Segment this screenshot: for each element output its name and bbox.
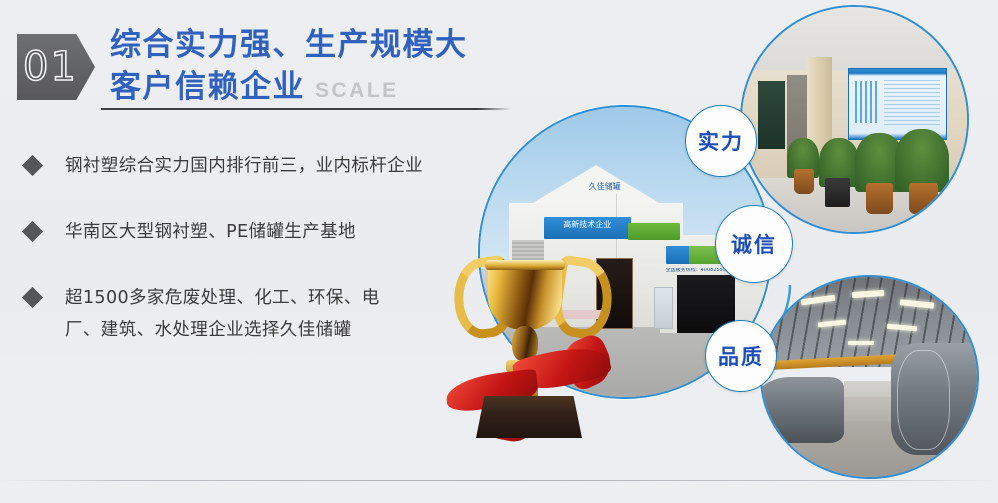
title-english-label: SCALE <box>315 79 399 102</box>
list-item: 超1500多家危废处理、化工、环保、电 厂、建筑、水处理企业选择久佳储罐 <box>22 282 492 346</box>
promo-banner: 01 综合实力强、生产规模大 客户信赖企业SCALE 钢衬塑综合实力国内排行前三… <box>0 0 998 503</box>
key-badge-strength: 实力 <box>685 105 757 177</box>
plant-pot <box>866 183 893 215</box>
photo-cluster: 久佳储罐 高新技术企业 全国服务热线：4008255586 <box>440 0 998 503</box>
key-badge-integrity: 诚信 <box>715 205 793 283</box>
office-corridor-photo <box>740 5 969 234</box>
floor-divider <box>0 480 998 481</box>
green-sign-panel <box>628 223 680 240</box>
list-item: 华南区大型钢衬塑、PE储罐生产基地 <box>22 216 492 248</box>
diamond-bullet-icon <box>22 221 43 242</box>
storage-tank-left <box>760 377 844 443</box>
section-number-badge: 01 <box>17 34 95 100</box>
plant-pot <box>825 178 850 207</box>
title-line-2-text: 客户信赖企业 <box>110 69 305 105</box>
background-equipment <box>844 381 891 421</box>
trophy-cup <box>488 264 562 330</box>
section-number-text: 01 <box>23 41 75 93</box>
ceiling-light <box>848 341 874 345</box>
list-item-label-continued: 厂、建筑、水处理企业选择久佳储罐 <box>65 314 492 346</box>
guard-booth <box>654 287 673 330</box>
key-badge-quality: 品质 <box>705 320 777 392</box>
trophy-rim <box>485 260 565 270</box>
plant-pot <box>909 183 938 215</box>
list-item-label: 超1500多家危废处理、化工、环保、电 <box>65 282 492 314</box>
plant-pot <box>794 169 814 194</box>
golden-trophy-with-red-ribbon <box>440 250 615 460</box>
storage-tank-right <box>891 343 979 455</box>
diamond-bullet-icon <box>22 287 43 308</box>
list-item: 钢衬塑综合实力国内排行前三，业内标杆企业 <box>22 150 492 182</box>
info-board <box>848 68 947 140</box>
trophy-base <box>476 396 582 438</box>
ceiling <box>742 7 967 75</box>
list-item-label: 华南区大型钢衬塑、PE储罐生产基地 <box>65 216 492 248</box>
workshop-tanks-photo <box>760 275 979 479</box>
high-tech-enterprise-sign: 高新技术企业 <box>544 217 631 239</box>
factory-name-sign: 久佳储罐 <box>567 182 642 197</box>
diamond-bullet-icon <box>22 155 43 176</box>
list-item-label: 钢衬塑综合实力国内排行前三，业内标杆企业 <box>65 150 492 182</box>
feature-list: 钢衬塑综合实力国内排行前三，业内标杆企业 华南区大型钢衬塑、PE储罐生产基地 超… <box>22 150 492 346</box>
